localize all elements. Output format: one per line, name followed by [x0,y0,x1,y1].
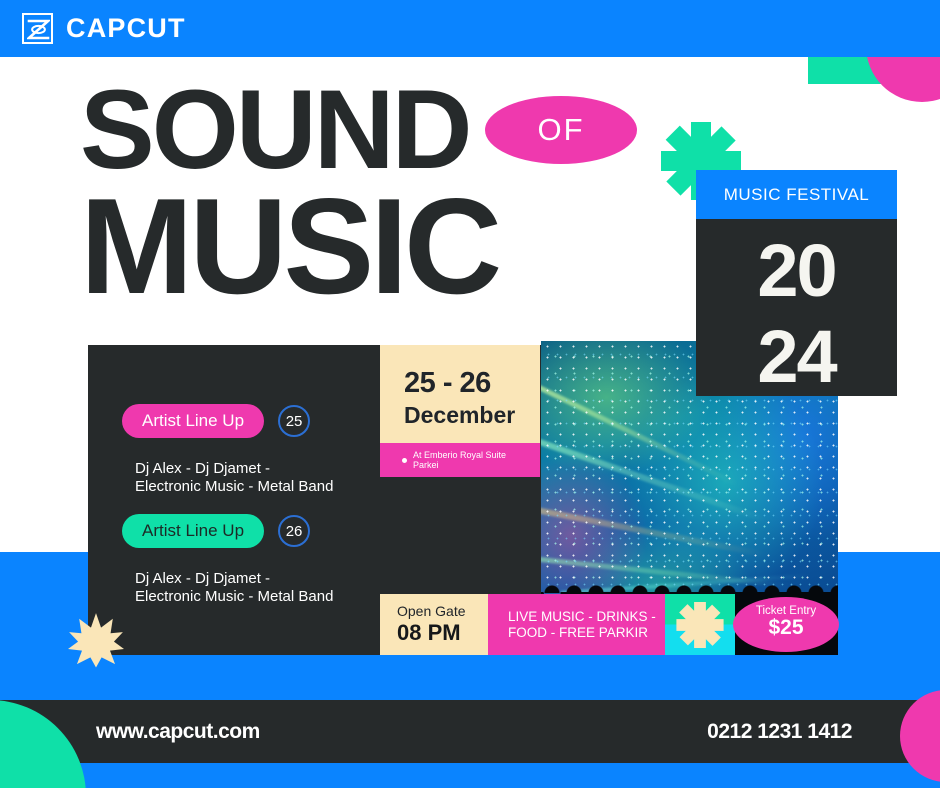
open-gate-time: 08 PM [397,620,488,646]
venue-card: At Emberio Royal Suite Parkei [380,443,540,477]
brand-logo[interactable]: CAPCUT [22,13,186,44]
features-card: LIVE MUSIC - DRINKS - FOOD - FREE PARKIR [488,594,665,655]
lineup-day-26: 26 [278,515,310,547]
lineup-block-25: Artist Line Up 25 Dj Alex - Dj Djamet - … [122,404,335,496]
year-top: 20 [696,237,897,305]
lineup-block-26: Artist Line Up 26 Dj Alex - Dj Djamet - … [122,514,335,606]
brand-name: CAPCUT [66,13,186,44]
ten-point-star-icon [68,612,124,673]
date-month: December [404,402,540,429]
features-text: LIVE MUSIC - DRINKS - FOOD - FREE PARKIR [508,609,658,641]
lineup-artists-25: Dj Alex - Dj Djamet - Electronic Music -… [135,460,335,496]
of-badge-label: OF [537,112,584,148]
date-card: 25 - 26 December [380,345,540,443]
lineup-header-26: Artist Line Up 26 [122,514,335,548]
lineup-day-25: 25 [278,405,310,437]
ticket-price: $25 [733,616,839,640]
date-days: 25 - 26 [404,367,540,400]
bullet-icon [402,458,407,463]
lineup-header-25: Artist Line Up 25 [122,404,335,438]
festival-tag-label: MUSIC FESTIVAL [724,185,870,205]
festival-tag: MUSIC FESTIVAL [696,170,897,219]
venue-text: At Emberio Royal Suite Parkei [413,450,523,470]
asterisk-card [665,594,735,655]
bottom-blue-strip [0,763,940,788]
capcut-logo-icon [22,13,53,44]
open-gate-label: Open Gate [397,603,488,619]
poster-canvas: CAPCUT SOUND MUSIC OF MUSIC FESTIVAL 20 … [0,0,940,788]
of-badge: OF [485,96,637,164]
open-gate-card: Open Gate 08 PM [380,594,488,655]
year-bottom: 24 [696,323,897,391]
lineup-pill-26[interactable]: Artist Line Up [122,514,264,548]
footer-website[interactable]: www.capcut.com [96,720,260,744]
footer-bar: www.capcut.com 0212 1231 1412 [0,700,940,763]
lineup-pill-25[interactable]: Artist Line Up [122,404,264,438]
title-line-1: SOUND [80,78,498,182]
ticket-badge[interactable]: Ticket Entry $25 [733,597,839,652]
lineup-artists-26: Dj Alex - Dj Djamet - Electronic Music -… [135,570,335,606]
title-line-2: MUSIC [80,186,498,306]
brand-bar: CAPCUT [0,0,940,57]
year-badge: 20 24 [696,219,897,396]
poster-title: SOUND MUSIC [80,78,498,326]
footer-phone[interactable]: 0212 1231 1412 [707,720,852,744]
